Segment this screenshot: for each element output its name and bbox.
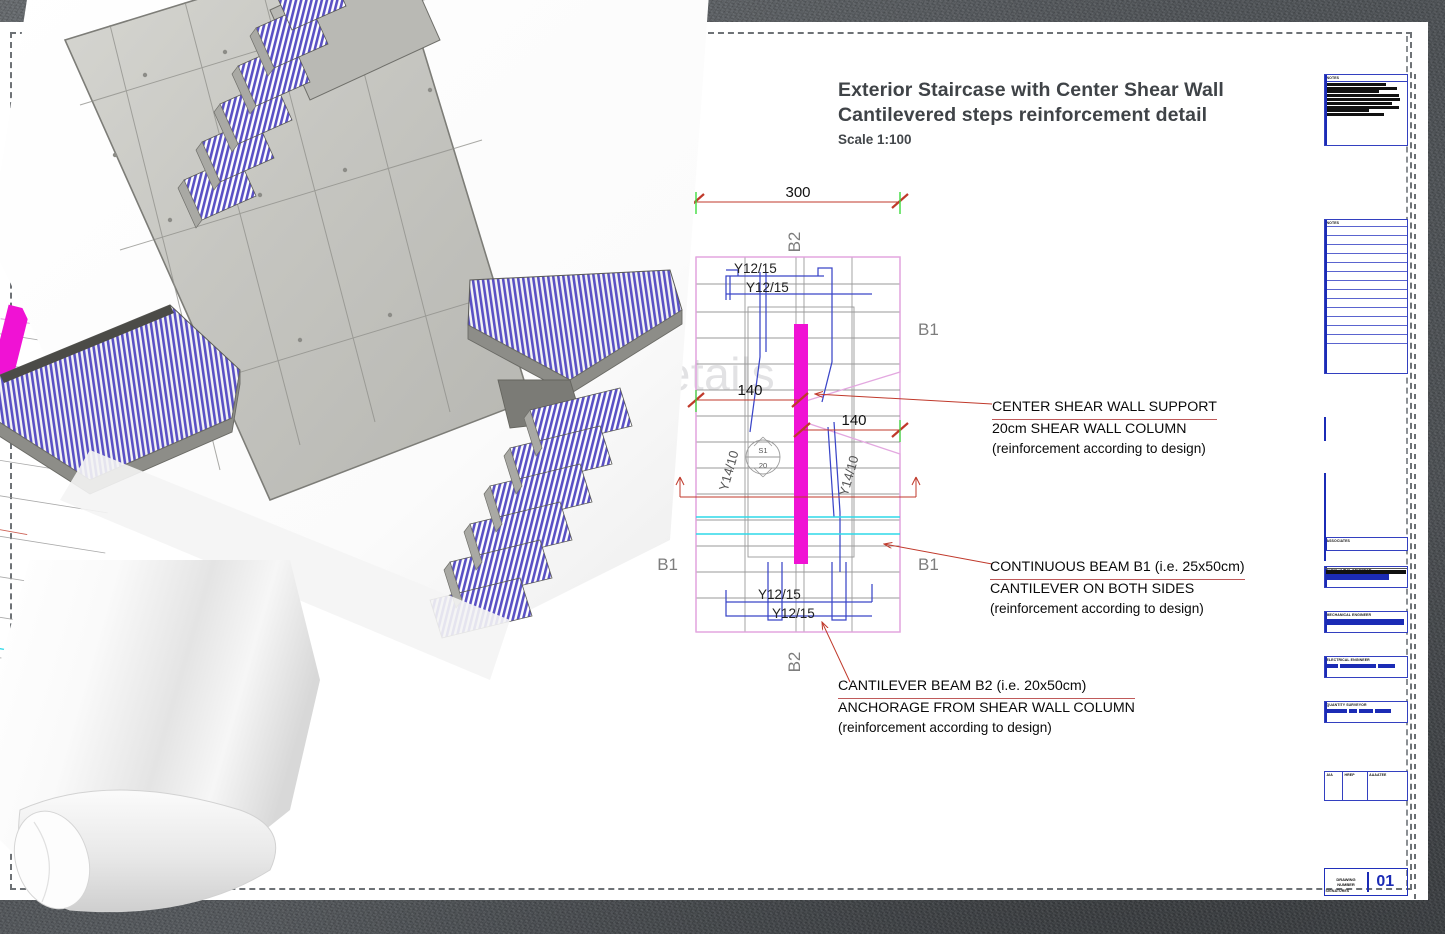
annotation-shear-wall: CENTER SHEAR WALL SUPPORT 20cm SHEAR WAL… [992, 398, 1217, 459]
rebar-label-bottom-outer: Y12/15 [772, 606, 815, 621]
title-line-2: Cantilevered steps reinforcement detail [838, 103, 1308, 128]
center-shear-wall [794, 324, 808, 564]
annotation-beam-b2-line1: CANTILEVER BEAM B2 (i.e. 20x50cm) [838, 677, 1135, 699]
drawing-number-label-2: NUMBER [1325, 882, 1367, 888]
annotation-shear-wall-line3: (reinforcement according to design) [992, 439, 1217, 459]
titleblock-mechanical-engineer-label: MECHANICAL ENGINEER [1325, 612, 1407, 618]
dimension-140-right-label: 140 [841, 412, 866, 429]
title-line-1: Exterior Staircase with Center Shear Wal… [838, 78, 1308, 103]
detail-bubble-mark: S1 [758, 446, 767, 455]
titleblock-approval-col-0: AIA [1325, 772, 1342, 778]
title-block-dash-rule [1414, 74, 1416, 904]
titleblock-quantity-surveyor-label: QUANTITY SURVEYOR [1325, 702, 1407, 708]
titleblock-approval-row[interactable]: AIA HREP AAAATEE [1324, 771, 1408, 801]
titleblock-approval-col-1: HREP [1343, 772, 1367, 778]
annotation-beam-b1-line1: CONTINUOUS BEAM B1 (i.e. 25x50cm) [990, 558, 1245, 580]
annotation-beam-b2: CANTILEVER BEAM B2 (i.e. 20x50cm) ANCHOR… [838, 677, 1135, 738]
dimension-140-left-label: 140 [737, 382, 762, 399]
titleblock-electrical-engineer-label: ELECTRICAL ENGINEER [1325, 657, 1407, 663]
leader-lines [815, 394, 992, 682]
detail-bubble-size: 20 [759, 461, 767, 470]
annotation-beam-b1-line3: (reinforcement according to design) [990, 599, 1245, 619]
beam-label-b1-top-right: B1 [918, 320, 939, 339]
rebar-label-top-outer: Y12/15 [734, 261, 777, 276]
titleblock-electrical-engineer[interactable]: ELECTRICAL ENGINEER [1324, 656, 1408, 678]
annotation-shear-wall-line2: 20cm SHEAR WALL COLUMN [992, 420, 1217, 440]
annotation-beam-b2-line2: ANCHORAGE FROM SHEAR WALL COLUMN [838, 699, 1135, 719]
annotation-beam-b1-line2: CANTILEVER ON BOTH SIDES [990, 580, 1245, 600]
beam-label-b2-top: B2 [785, 232, 804, 253]
detail-bubble: S1 20 [746, 437, 780, 477]
beam-label-b1-bottom-right: B1 [918, 555, 939, 574]
annotation-beam-b2-line3: (reinforcement according to design) [838, 718, 1135, 738]
rebar-label-top-inner: Y12/15 [746, 280, 789, 295]
rebar-label-bottom-inner: Y12/15 [758, 587, 801, 602]
titleblock-mechanical-engineer[interactable]: MECHANICAL ENGINEER [1324, 611, 1408, 633]
dimension-300-label: 300 [785, 184, 810, 201]
titleblock-quantity-surveyor[interactable]: QUANTITY SURVEYOR [1324, 701, 1408, 723]
curled-paper-roll [0, 560, 410, 934]
drawing-number-box[interactable]: DRAWING NUMBER 01 [1324, 868, 1408, 896]
titleblock-notes-2[interactable]: NOTES [1324, 219, 1408, 374]
title-scale: Scale 1:100 [838, 132, 1308, 147]
titleblock-approval-col-2: AAAATEE [1368, 772, 1407, 778]
titleblock-notes-1[interactable]: NOTES [1324, 74, 1408, 146]
annotation-shear-wall-line1: CENTER SHEAR WALL SUPPORT [992, 398, 1217, 420]
rebar-label-right-vertical: Y14/10 [836, 454, 862, 498]
beam-label-b2-bottom: B2 [785, 652, 804, 673]
drawing-number-value: 01 [1369, 873, 1394, 891]
page-title: Exterior Staircase with Center Shear Wal… [838, 78, 1308, 147]
titleblock-gap-1 [1324, 473, 1408, 561]
title-block: NOTES NOTES ASSOCIATES [1324, 74, 1408, 904]
titleblock-company-stamp [1324, 562, 1408, 584]
titleblock-spacer [1324, 417, 1408, 441]
annotation-beam-b1: CONTINUOUS BEAM B1 (i.e. 25x50cm) CANTIL… [990, 558, 1245, 619]
